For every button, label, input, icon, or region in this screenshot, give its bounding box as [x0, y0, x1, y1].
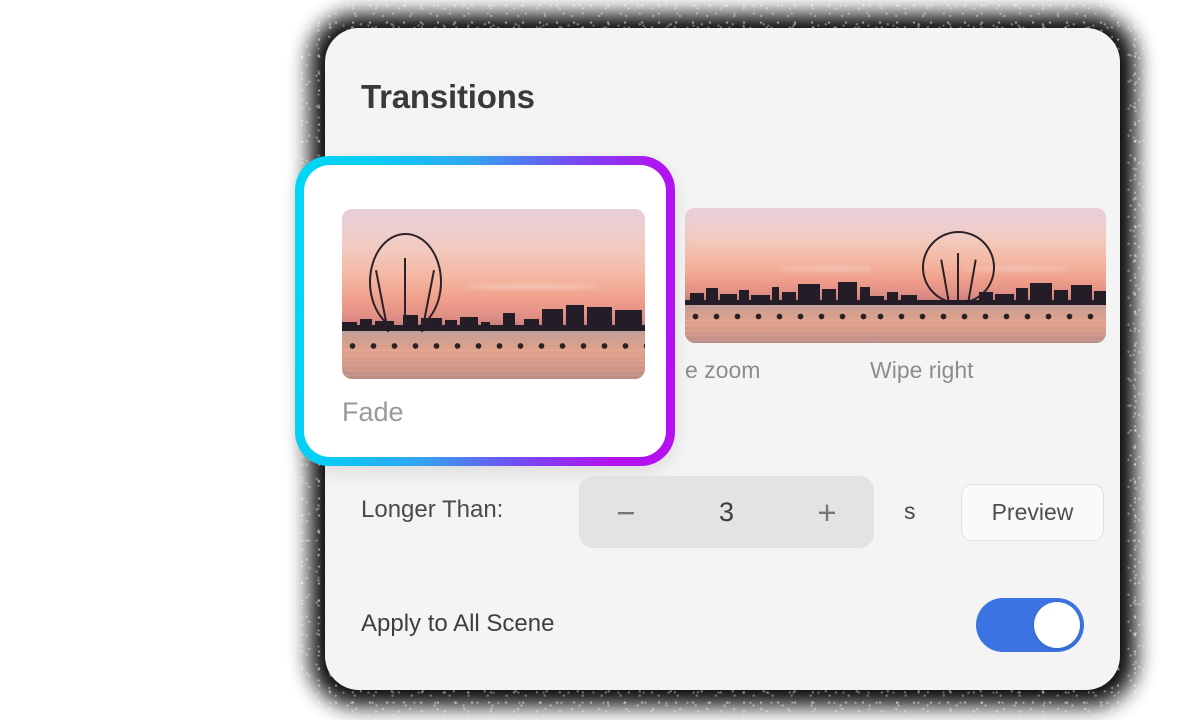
transition-thumbnail — [870, 208, 1106, 343]
transition-card-wipe-right[interactable]: Wipe right — [870, 208, 1106, 384]
toggle-knob — [1034, 602, 1080, 648]
duration-label: Longer Than: — [361, 496, 503, 524]
increment-button[interactable]: + — [810, 496, 844, 529]
duration-value[interactable]: 3 — [707, 497, 747, 528]
transitions-panel: Transitions — [325, 28, 1120, 690]
decrement-button[interactable]: − — [609, 496, 643, 529]
sunset-scene-image — [870, 208, 1106, 343]
screen-root: Transitions — [0, 0, 1200, 720]
apply-to-all-row: Apply to All Scene — [361, 598, 1084, 658]
sunset-scene-image — [342, 209, 645, 379]
transition-card-fade-selected[interactable]: Fade — [295, 156, 675, 466]
transition-card-label: Wipe right — [870, 357, 1106, 384]
duration-stepper[interactable]: − 3 + — [579, 476, 874, 548]
transition-card-label: Fade — [342, 397, 404, 428]
transition-thumbnail — [342, 209, 645, 379]
selected-card-body: Fade — [304, 165, 666, 457]
preview-button[interactable]: Preview — [961, 484, 1104, 541]
apply-to-all-label: Apply to All Scene — [361, 610, 554, 638]
page-title: Transitions — [361, 78, 535, 116]
duration-unit-label: s — [904, 498, 916, 525]
apply-to-all-toggle[interactable] — [976, 598, 1084, 652]
duration-row: Longer Than: − 3 + s Preview — [361, 476, 1084, 548]
